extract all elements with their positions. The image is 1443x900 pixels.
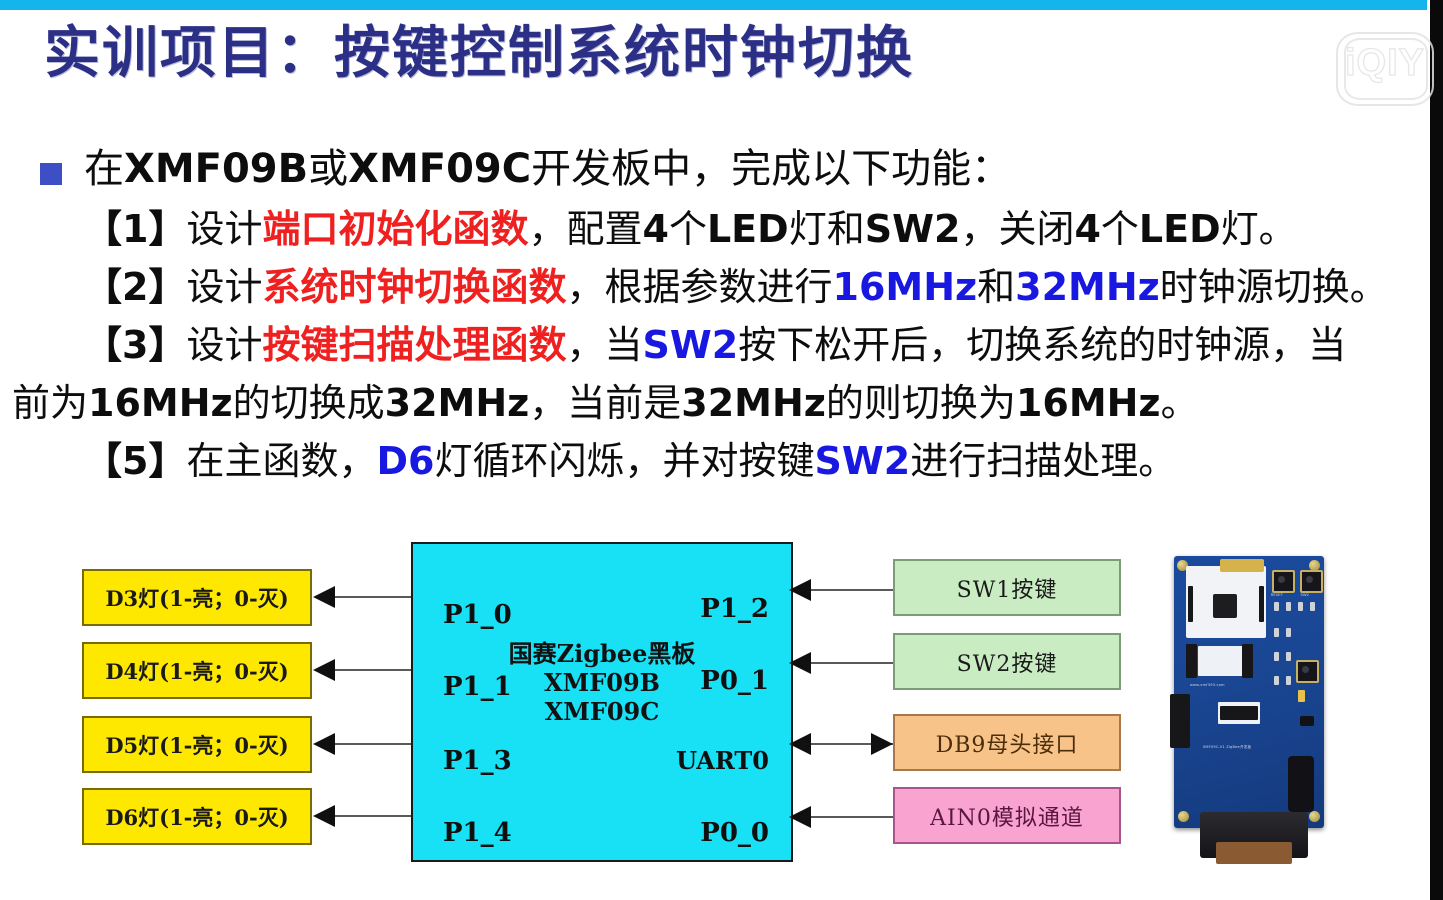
pcb-capacitor-1 [1300,716,1314,726]
requirement-marker: 【1】 [84,207,186,251]
slide-body: 在XMF09B或XMF09C开发板中，完成以下功能： 【1】设计端口初始化函数，… [84,138,1414,490]
intro-chip-b: XMF09C [348,146,531,192]
requirement-text: 在主函数， [186,439,376,483]
pin-label-p1-0: P1_0 [443,600,512,630]
top-accent-bar [0,0,1443,10]
arrow-head-p13 [313,733,335,755]
requirement-text: 。 [1161,381,1199,425]
pcb-header-left [1186,644,1197,678]
requirement-text: 和 [977,265,1015,309]
pcb-resistor-9 [1274,676,1279,685]
pcb-resistor-5 [1274,628,1279,637]
pin-label-p1-3: P1_3 [443,746,512,776]
pcb-resistor-8 [1286,652,1291,661]
led-box-d5: D5灯(1-亮；0-灭) [82,716,312,773]
pcb-resistor-6 [1286,628,1291,637]
arrow-line-p10 [335,596,411,598]
pin-label-p1-4: P1_4 [443,818,512,848]
pcb-resistor-1 [1274,602,1279,611]
intro-suffix: 开发板中，完成以下功能： [531,146,1011,192]
requirement-marker: 【2】 [84,265,186,309]
pcb-resistor-3 [1298,602,1303,611]
board-photo: RESET SW2 www.xmf393.com XMF09C-V1 ZigBe… [1160,542,1336,872]
requirement-line-1: 【2】设计系统时钟切换函数，根据参数进行16MHz和32MHz时钟源切换。 [84,258,1414,316]
arrow-line-ain0 [811,816,893,818]
arrow-line-sw2 [811,662,893,664]
requirement-text: 灯循环闪烁，并对按键 [434,439,814,483]
arrow-line-sw1 [811,589,893,591]
arrow-line-p13 [335,743,411,745]
peripheral-box-db9: DB9母头接口 [893,714,1121,771]
pcb-substrate: RESET SW2 www.xmf393.com XMF09C-V1 ZigBe… [1174,556,1324,828]
pcb-uart-ic [1220,706,1258,720]
requirement-text: 16MHz [833,265,978,309]
requirement-text: SW2 [643,323,739,367]
pcb-antenna [1220,559,1264,572]
requirement-text: 进行扫描处理。 [910,439,1176,483]
pcb-header-right [1242,644,1253,678]
pcb-idc-connector [1170,694,1190,748]
requirement-text: 个 [1101,207,1139,251]
mcu-model-c: XMF09C [413,697,791,726]
iqiyi-watermark-icon: iQIY [1336,26,1432,108]
pcb-module-pads-right [1259,586,1264,622]
arrow-head-p10 [313,586,335,608]
requirement-line-2: 【3】设计按键扫描处理函数，当SW2按下松开后，切换系统的时钟源，当 [84,316,1414,374]
pcb-screw-bl [1178,811,1189,822]
requirement-text: 的则切换为 [826,381,1016,425]
pcb-reset-label: RESET [1271,592,1283,597]
requirement-text: SW2 [865,207,961,251]
requirement-text: 前为 [12,381,88,425]
pcb-resistor-7 [1274,652,1279,661]
requirement-list: 【1】设计端口初始化函数，配置4个LED灯和SW2，关闭4个LED灯。【2】设计… [84,200,1414,490]
arrow-head-sw2 [789,652,811,674]
requirement-line-3: 前为16MHz的切换成32MHz，当前是32MHz的则切换为16MHz。 [12,374,1414,432]
mcu-center-label: 国赛Zigbee黑板 XMF09B XMF09C [413,639,791,726]
requirement-text: LED [1139,207,1221,251]
pcb-url-label: www.xmf393.com [1190,682,1225,687]
arrow-line-p14 [335,815,411,817]
led-box-d4: D4灯(1-亮；0-灭) [82,642,312,699]
watermark-label: iQIY [1340,44,1430,82]
pcb-soc-chip [1213,594,1237,618]
requirement-text: 16MHz [88,381,233,425]
requirement-text: 4 [1074,207,1100,251]
requirement-line-4: 【5】在主函数，D6灯循环闪烁，并对按键SW2进行扫描处理。 [84,432,1414,490]
requirement-text: 32MHz [1015,265,1160,309]
block-diagram: D3灯(1-亮；0-灭) D4灯(1-亮；0-灭) D5灯(1-亮；0-灭) D… [0,520,1443,900]
mcu-block: P1_0 P1_1 P1_3 P1_4 P1_2 P0_1 UART0 P0_0… [411,542,793,862]
right-edge-band [1430,0,1443,900]
peripheral-box-sw1: SW1按键 [893,559,1121,616]
pcb-sw2-button [1300,570,1323,593]
requirement-text: 个 [669,207,707,251]
intro-line: 在XMF09B或XMF09C开发板中，完成以下功能： [84,138,1414,200]
led-box-d3: D3灯(1-亮；0-灭) [82,569,312,626]
arrow-head-uart0-left [789,733,811,755]
requirement-text: 4 [643,207,669,251]
requirement-text: 灯。 [1221,207,1297,251]
intro-mid: 或 [308,146,348,192]
pin-label-p1-2: P1_2 [700,594,769,624]
arrow-head-p14 [313,805,335,827]
pcb-db9-connector [1200,812,1308,858]
requirement-text: 时钟源切换。 [1160,265,1388,309]
requirement-text: 灯和 [789,207,865,251]
intro-prefix: 在 [84,146,124,192]
pin-label-p0-0: P0_0 [700,818,769,848]
requirement-text: 的切换成 [233,381,385,425]
requirement-text: 按键扫描处理函数 [262,323,566,367]
requirement-text: LED [707,207,789,251]
mcu-name: 国赛Zigbee黑板 [413,639,791,668]
requirement-text: ，根据参数进行 [566,265,832,309]
pcb-resistor-10 [1286,676,1291,685]
pcb-reset-button [1272,570,1295,593]
arrow-head-p11 [313,659,335,681]
requirement-text: 32MHz [681,381,826,425]
requirement-marker: 【3】 [84,323,186,367]
pcb-sw2-label: SW2 [1300,592,1309,597]
requirement-text: 端口初始化函数 [262,207,528,251]
pcb-resistor-2 [1286,602,1291,611]
pcb-sw1-button [1296,660,1319,683]
requirement-text: ，当 [566,323,642,367]
requirement-text: 设计 [186,265,262,309]
arrow-line-p11 [335,669,411,671]
requirement-text: D6 [376,439,434,483]
arrow-head-uart0-right [871,733,893,755]
arrow-head-ain0 [789,806,811,828]
led-box-d6: D6灯(1-亮；0-灭) [82,788,312,845]
pcb-model-label: XMF09C-V1 ZigBee开发板 [1203,744,1252,749]
intro-chip-a: XMF09B [124,146,308,192]
requirement-text: SW2 [814,439,910,483]
pcb-zigbee-module [1186,566,1266,638]
slide-title: 实训项目：按键控制系统时钟切换 [44,22,914,86]
requirement-text: 16MHz [1016,381,1161,425]
pcb-resistor-4 [1310,602,1315,611]
pin-label-uart0: UART0 [676,746,769,775]
requirement-text: ，配置 [528,207,642,251]
requirement-text: 32MHz [385,381,530,425]
requirement-text: ，当前是 [529,381,681,425]
requirement-text: 设计 [186,207,262,251]
pcb-screw-br [1309,811,1320,822]
mcu-model-b: XMF09B [413,668,791,697]
arrow-head-sw1 [789,579,811,601]
requirement-text: 设计 [186,323,262,367]
pcb-module-pads-left [1188,586,1193,622]
requirement-line-0: 【1】设计端口初始化函数，配置4个LED灯和SW2，关闭4个LED灯。 [84,200,1414,258]
bullet-marker-icon [40,163,62,185]
pcb-led-indicator [1298,690,1305,702]
requirement-text: 按下松开后，切换系统的时钟源，当 [738,323,1346,367]
peripheral-box-ain0: AIN0模拟通道 [893,787,1121,844]
requirement-text: ，关闭 [960,207,1074,251]
peripheral-box-sw2: SW2按键 [893,633,1121,690]
pcb-power-jack [1288,756,1314,812]
requirement-marker: 【5】 [84,439,186,483]
requirement-text: 系统时钟切换函数 [262,265,566,309]
